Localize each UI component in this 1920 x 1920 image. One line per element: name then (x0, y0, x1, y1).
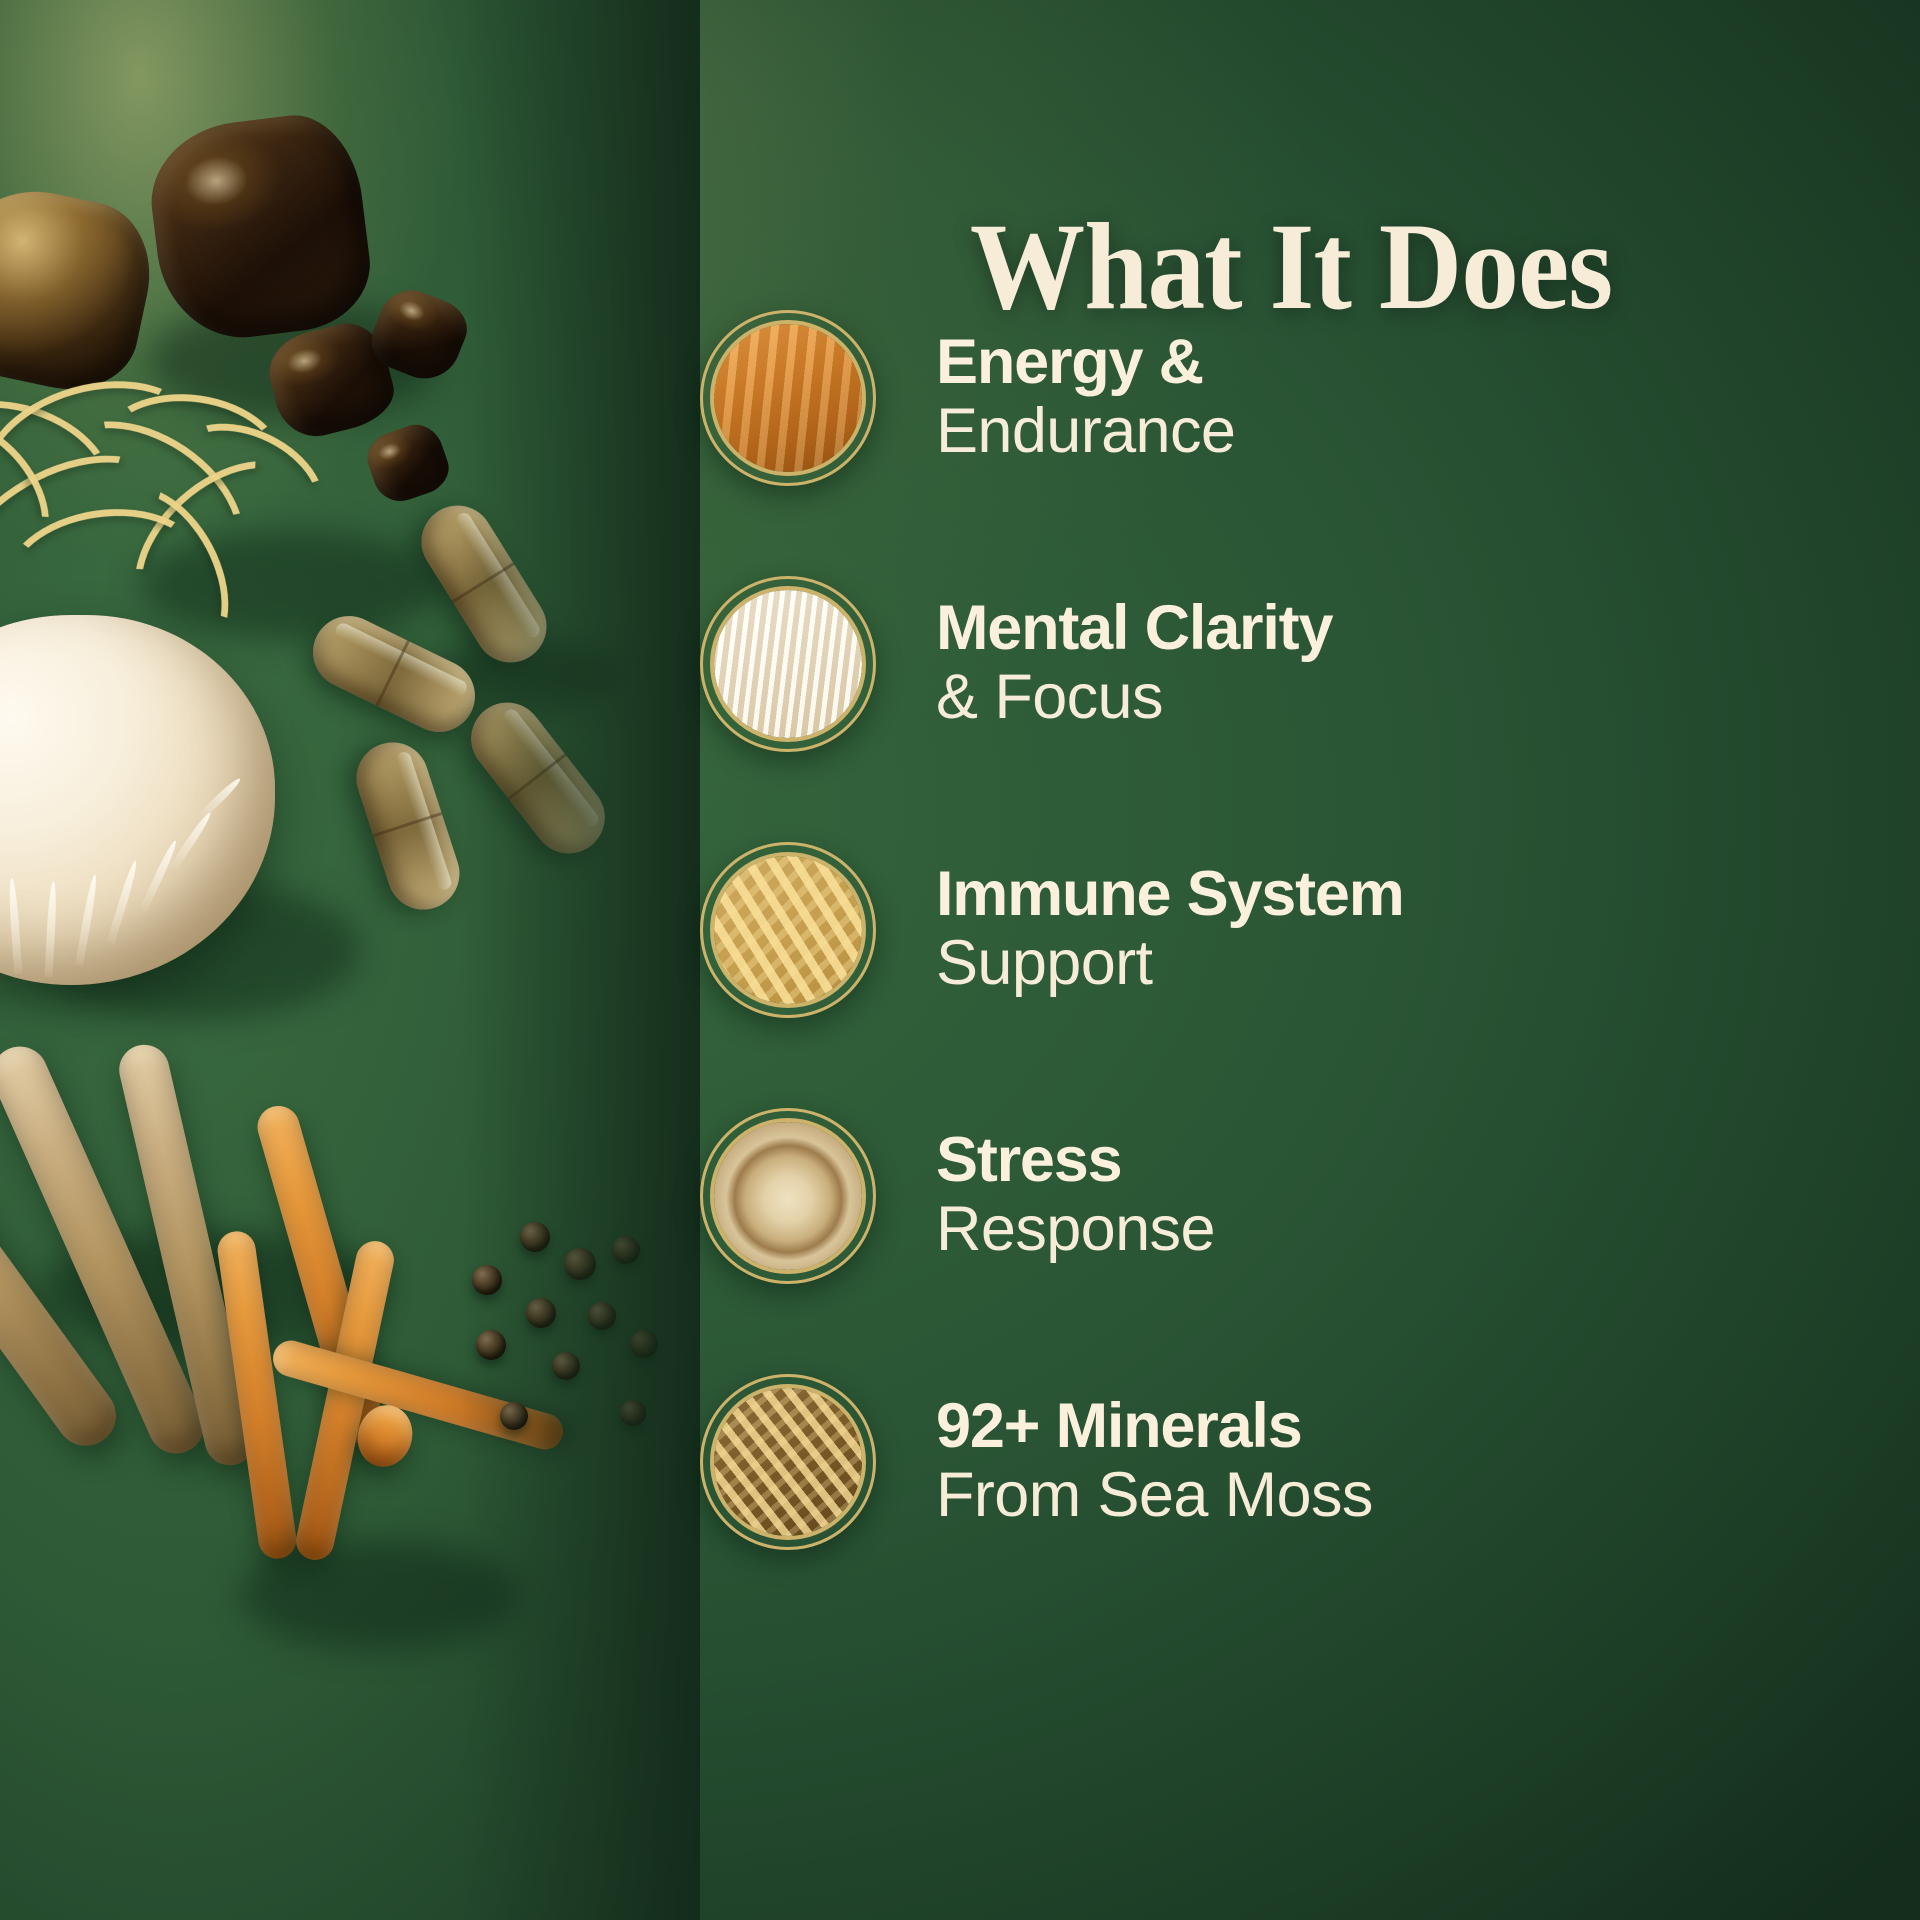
peppercorn-11 (620, 1400, 646, 1426)
benefit-text: Stress Response (936, 1128, 1215, 1265)
medallion-frame (700, 842, 876, 1018)
medallion-inner (710, 586, 866, 742)
ingredient-photo-collage (0, 0, 700, 1920)
benefit-primary-label: 92+ Minerals (936, 1394, 1373, 1460)
benefit-item-minerals: 92+ Minerals From Sea Moss (700, 1364, 1920, 1560)
benefit-text: 92+ Minerals From Sea Moss (936, 1394, 1373, 1531)
content-panel: What It Does Energy & Endurance (680, 0, 1920, 1920)
peppercorn-3 (472, 1265, 502, 1295)
benefit-item-energy: Energy & Endurance (700, 300, 1920, 496)
medallion-inner (710, 1118, 866, 1274)
peppercorn-10 (500, 1402, 528, 1430)
peppercorn-7 (476, 1330, 506, 1360)
medallion-frame (700, 310, 876, 486)
astragalus-root-icon (714, 1122, 862, 1270)
benefit-text: Immune System Support (936, 862, 1404, 999)
promo-graphic: What It Does Energy & Endurance (0, 0, 1920, 1920)
peppercorn-9 (630, 1330, 658, 1358)
benefit-primary-label: Energy & (936, 330, 1235, 396)
benefit-list: Energy & Endurance Mental Clarity & Focu… (700, 300, 1920, 1560)
benefit-secondary-label: Endurance (936, 397, 1235, 466)
medallion-inner (710, 852, 866, 1008)
benefit-primary-label: Stress (936, 1128, 1215, 1194)
cordyceps-mushroom-icon (714, 324, 862, 472)
medallion-frame (700, 1374, 876, 1550)
benefit-text: Mental Clarity & Focus (936, 596, 1332, 733)
peppercorn-4 (612, 1236, 640, 1264)
benefit-secondary-label: & Focus (936, 663, 1332, 732)
benefit-item-mental-clarity: Mental Clarity & Focus (700, 566, 1920, 762)
benefit-item-stress: Stress Response (700, 1098, 1920, 1294)
benefit-secondary-label: Support (936, 929, 1404, 998)
peppercorn-5 (526, 1298, 556, 1328)
peppercorn-2 (564, 1248, 596, 1280)
medallion-frame (700, 576, 876, 752)
sea-moss-icon (714, 856, 862, 1004)
medallion-frame (700, 1108, 876, 1284)
medallion-inner (710, 320, 866, 476)
peppercorn-8 (552, 1352, 580, 1380)
peppercorn-6 (588, 1302, 616, 1330)
benefit-primary-label: Mental Clarity (936, 596, 1332, 662)
benefit-secondary-label: Response (936, 1195, 1215, 1264)
sea-moss-pile (0, 375, 390, 620)
benefit-primary-label: Immune System (936, 862, 1404, 928)
peppercorn-1 (520, 1222, 550, 1252)
benefit-item-immune-system: Immune System Support (700, 832, 1920, 1028)
lions-mane-mushroom-icon (714, 590, 862, 738)
sea-moss-gel-icon (714, 1388, 862, 1536)
medallion-inner (710, 1384, 866, 1540)
benefit-text: Energy & Endurance (936, 330, 1235, 467)
benefit-secondary-label: From Sea Moss (936, 1461, 1373, 1530)
